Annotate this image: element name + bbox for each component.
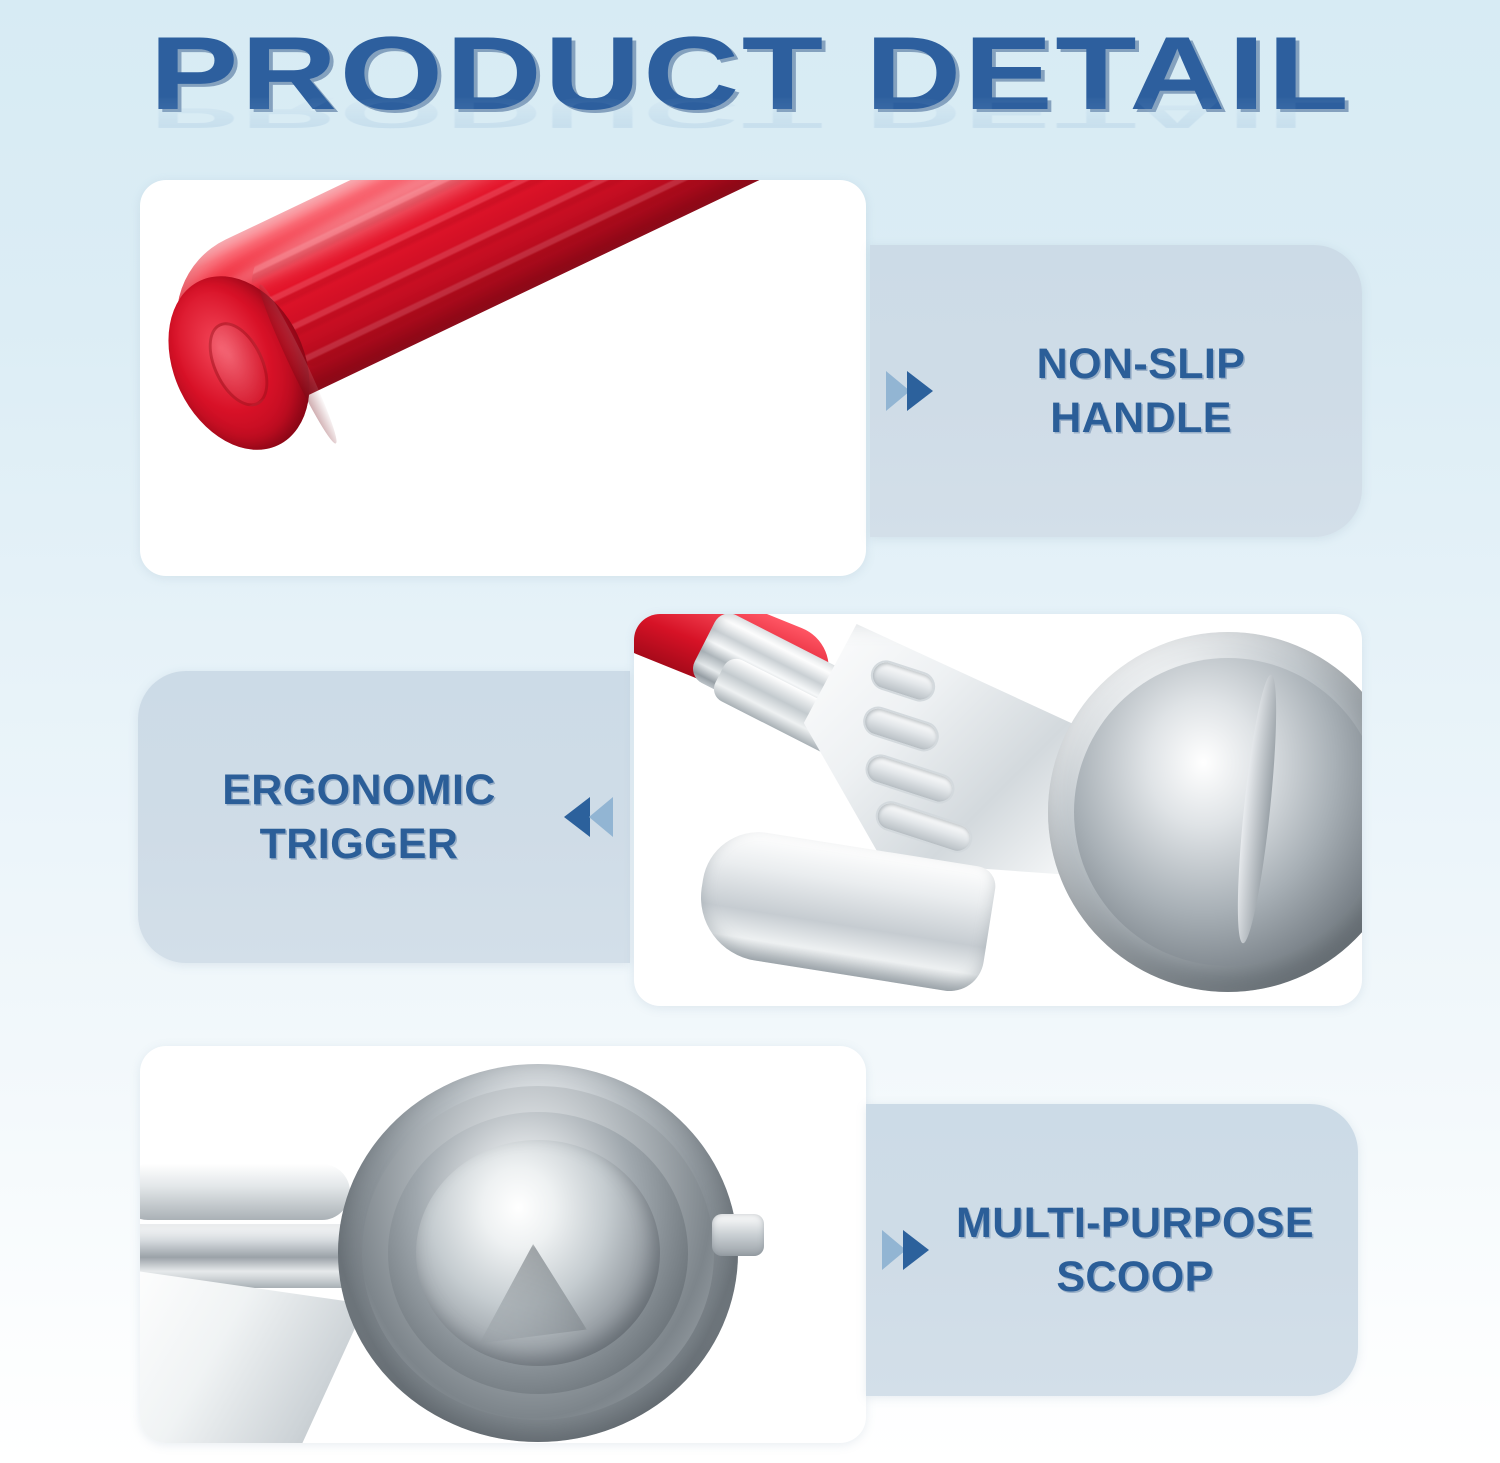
callout-label-ergonomic-trigger: ERGONOMIC TRIGGER — [222, 763, 496, 871]
handle-photo-scene — [140, 180, 866, 576]
handle-ribs-shape — [232, 180, 837, 387]
trigger-photo-scene — [634, 614, 1362, 1006]
callout-label-non-slip-handle: NON-SLIP HANDLE — [1037, 337, 1246, 445]
page-title-text: PRODUCT DETAIL — [149, 18, 1351, 130]
arrow-triangle-dark — [903, 1230, 929, 1270]
page-title: PRODUCT DETAIL PRODUCT DETAIL — [0, 18, 1500, 168]
arrow-triangle-dark — [907, 371, 933, 411]
callout-non-slip-handle[interactable]: NON-SLIP HANDLE — [870, 245, 1362, 537]
feature-photo-non-slip-handle — [140, 180, 866, 576]
feature-photo-ergonomic-trigger — [634, 614, 1362, 1006]
callout-label-multi-purpose-scoop: MULTI-PURPOSE SCOOP — [956, 1196, 1314, 1304]
callout-text-slot: ERGONOMIC TRIGGER — [164, 763, 560, 871]
double-arrow-right-icon — [886, 369, 940, 413]
double-arrow-left-icon — [560, 795, 614, 839]
callout-multi-purpose-scoop[interactable]: MULTI-PURPOSE SCOOP — [866, 1104, 1358, 1396]
trigger-scoop-bowl-shape — [1048, 632, 1362, 992]
callout-text-slot: NON-SLIP HANDLE — [940, 337, 1336, 445]
scoop-rivet-shape — [712, 1214, 764, 1256]
scoop-bowl-dome-shape — [416, 1140, 660, 1366]
scoop-wing-plate-shape — [140, 1268, 366, 1443]
product-detail-infographic: PRODUCT DETAIL PRODUCT DETAIL NON-SLIP H… — [0, 0, 1500, 1463]
arrow-triangle-pale — [589, 797, 613, 837]
scoop-photo-scene — [140, 1046, 866, 1443]
arrow-triangle-dark — [564, 797, 590, 837]
feature-photo-multi-purpose-scoop — [140, 1046, 866, 1443]
scoop-upper-arm-shape — [140, 1164, 350, 1220]
callout-text-slot: MULTI-PURPOSE SCOOP — [936, 1196, 1332, 1304]
callout-ergonomic-trigger[interactable]: ERGONOMIC TRIGGER — [138, 671, 630, 963]
double-arrow-right-icon — [882, 1228, 936, 1272]
